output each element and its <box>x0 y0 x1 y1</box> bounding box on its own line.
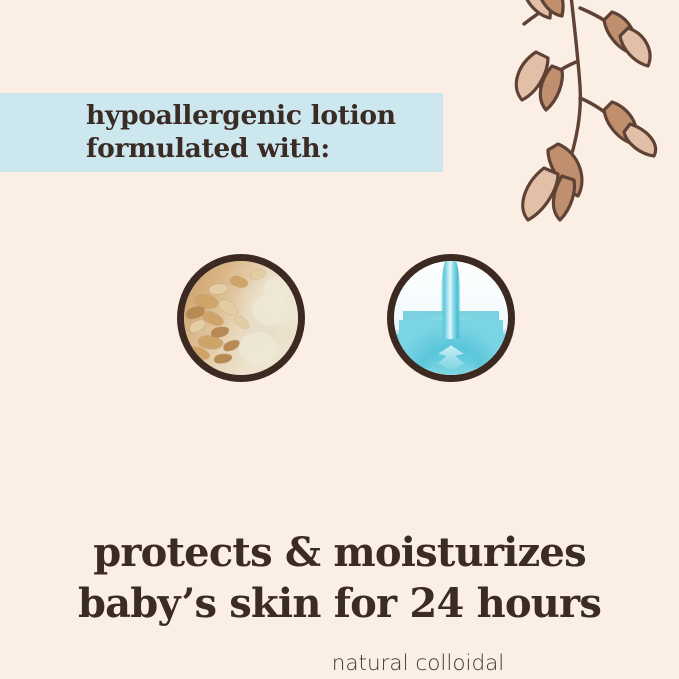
product-benefit-graphic: hypoallergenic lotion formulated with: <box>0 0 679 679</box>
liquid-pour-illustration <box>394 261 508 375</box>
headline-text: hypoallergenic lotion formulated with: <box>86 99 486 165</box>
ingredient-oatmeal: natural colloidal oatmeal <box>177 254 305 382</box>
claim-line-1: protects & moisturizes <box>93 529 586 576</box>
oatmeal-texture <box>184 261 298 375</box>
ingredient-oatmeal-label: natural colloidal oatmeal <box>288 650 548 679</box>
oat-branch-icon <box>500 0 679 234</box>
benefit-claim-text: protects & moisturizes baby’s skin for 2… <box>0 527 679 629</box>
ingredient-dimethicone: dimethicone skin protectant <box>387 254 515 382</box>
headline-line-2: formulated with: <box>86 132 486 165</box>
headline-line-1: hypoallergenic lotion <box>86 100 396 131</box>
colloidal-oatmeal-photo <box>177 254 305 382</box>
claim-line-2: baby’s skin for 24 hours <box>0 578 679 629</box>
dimethicone-liquid-photo <box>387 254 515 382</box>
